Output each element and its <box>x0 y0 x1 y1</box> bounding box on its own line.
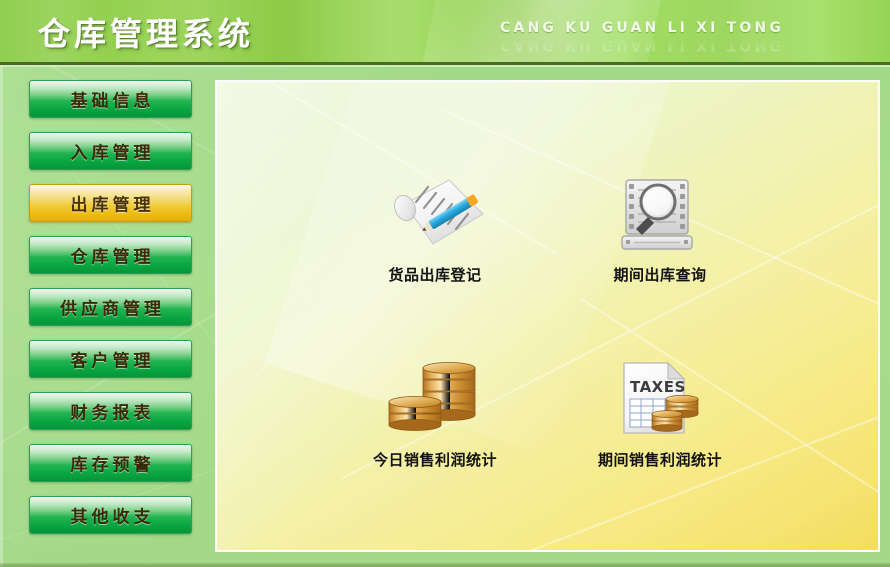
window-bottom-edge <box>0 563 890 567</box>
warehouse-management-window: 仓库管理系统 CANG KU GUAN LI XI TONG CANG KU G… <box>0 0 890 567</box>
tile-label: 货品出库登记 <box>335 264 535 285</box>
sidebar-nav: 基础信息 入库管理 出库管理 仓库管理 供应商管理 客户管理 财务报表 库存预警 <box>0 67 212 567</box>
document-magnifier-icon <box>560 172 760 258</box>
clipboard-pencil-icon <box>335 172 535 258</box>
taxes-document-coins-icon: TAXES <box>560 357 760 443</box>
page-title-pinyin-group: CANG KU GUAN LI XI TONG CANG KU GUAN LI … <box>500 20 784 53</box>
sidebar-item-customer[interactable]: 客户管理 <box>29 340 192 378</box>
sidebar-item-finance-report[interactable]: 财务报表 <box>29 392 192 430</box>
tile-label: 期间销售利润统计 <box>560 449 760 470</box>
sidebar-item-label: 仓库管理 <box>30 243 191 268</box>
sidebar-item-inbound[interactable]: 入库管理 <box>29 132 192 170</box>
tile-label: 期间出库查询 <box>560 264 760 285</box>
sidebar-item-label: 出库管理 <box>30 191 191 216</box>
coin-stacks-icon <box>335 357 535 443</box>
tile-label: 今日销售利润统计 <box>335 449 535 470</box>
sidebar-item-stock-alert[interactable]: 库存预警 <box>29 444 192 482</box>
sidebar-item-label: 客户管理 <box>30 347 191 372</box>
page-title: 仓库管理系统 <box>38 9 254 55</box>
tile-today-sales-profit-stats[interactable]: 今日销售利润统计 <box>335 357 535 470</box>
page-title-pinyin: CANG KU GUAN LI XI TONG <box>500 20 784 36</box>
page-title-pinyin-reflection: CANG KU GUAN LI XI TONG <box>500 37 784 53</box>
sidebar-item-supplier[interactable]: 供应商管理 <box>29 288 192 326</box>
tile-period-outbound-query[interactable]: 期间出库查询 <box>560 172 760 285</box>
tile-goods-outbound-register[interactable]: 货品出库登记 <box>335 172 535 285</box>
sidebar-item-other-income-expense[interactable]: 其他收支 <box>29 496 192 534</box>
sidebar-item-warehouse[interactable]: 仓库管理 <box>29 236 192 274</box>
sidebar-item-label: 财务报表 <box>30 399 191 424</box>
svg-text:TAXES: TAXES <box>630 378 686 396</box>
sidebar-item-basic-info[interactable]: 基础信息 <box>29 80 192 118</box>
sidebar-item-label: 供应商管理 <box>30 295 191 320</box>
sidebar-item-label: 库存预警 <box>30 451 191 476</box>
sidebar-item-outbound[interactable]: 出库管理 <box>29 184 192 222</box>
sidebar-item-label: 基础信息 <box>30 87 191 112</box>
sidebar-item-label: 其他收支 <box>30 503 191 528</box>
sidebar-item-label: 入库管理 <box>30 139 191 164</box>
app-header: 仓库管理系统 CANG KU GUAN LI XI TONG CANG KU G… <box>0 0 890 62</box>
body-area: 基础信息 入库管理 出库管理 仓库管理 供应商管理 客户管理 财务报表 库存预警 <box>0 67 890 567</box>
content-panel: 货品出库登记 <box>215 80 880 552</box>
tile-period-sales-profit-stats[interactable]: TAXES <box>560 357 760 470</box>
